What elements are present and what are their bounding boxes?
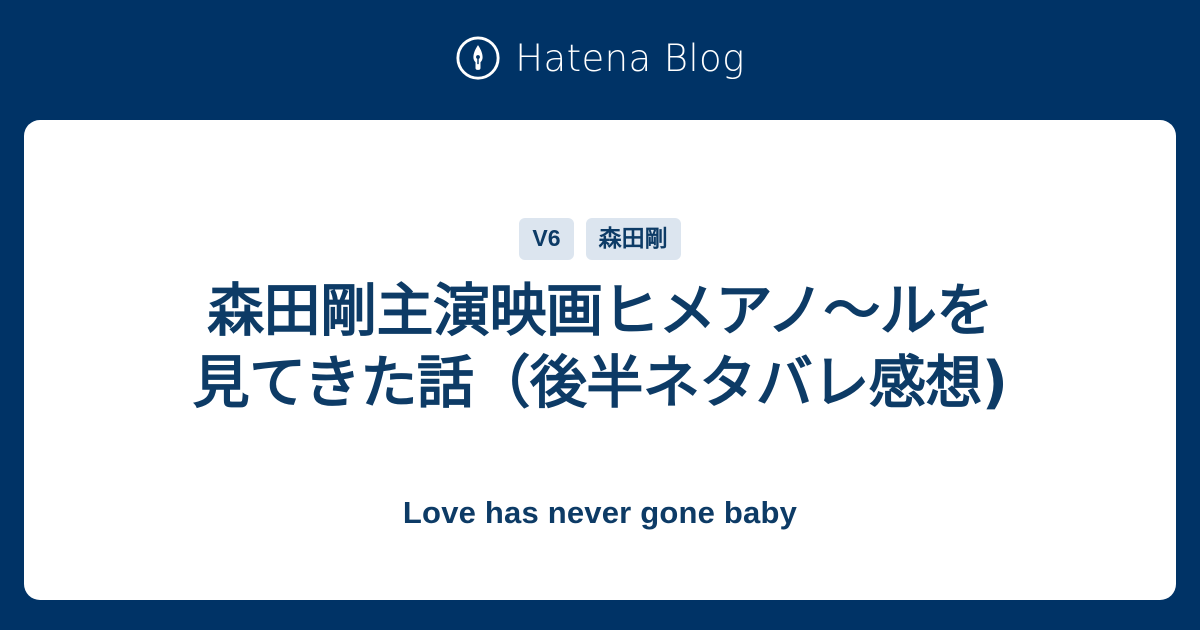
- brand-name: Hatena Blog: [515, 40, 744, 77]
- blog-name[interactable]: Love has never gone baby: [403, 497, 797, 528]
- tag-item[interactable]: V6: [519, 218, 573, 260]
- entry-title: 森田剛主演映画ヒメアノ〜ルを 見てきた話（後半ネタバレ感想): [193, 276, 1008, 420]
- entry-title-line: 森田剛主演映画ヒメアノ〜ルを: [207, 278, 993, 344]
- tag-list: V6 森田剛: [519, 218, 680, 260]
- hatena-pen-nib-icon: [455, 35, 501, 81]
- entry-title-line: 見てきた話（後半ネタバレ感想): [193, 350, 1008, 416]
- entry-card: V6 森田剛 森田剛主演映画ヒメアノ〜ルを 見てきた話（後半ネタバレ感想) Lo…: [24, 120, 1176, 600]
- brand-header: Hatena Blog: [0, 0, 1200, 120]
- tag-item[interactable]: 森田剛: [586, 218, 681, 260]
